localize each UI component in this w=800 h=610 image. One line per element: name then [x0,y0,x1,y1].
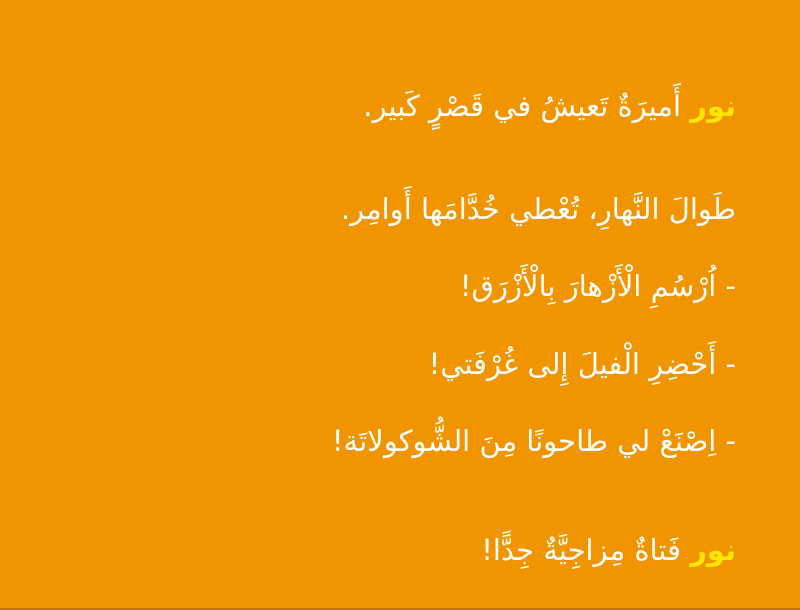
story-page: نور أَميرَةٌ تَعيشُ في قَصْرٍ كَبير. طَو… [0,0,800,610]
paragraph-conclusion-text: فَتاةٌ مِزاجِيَّةٌ جِدًّا! [481,533,690,567]
command-line-2: ‎- أَحْضِرِ الْفيلَ إِلى غُرْفَتي! [64,344,736,385]
character-name-noor-first: نور [690,89,736,123]
character-name-noor-last: نور [690,533,736,567]
paragraph-intro: نور أَميرَةٌ تَعيشُ في قَصْرٍ كَبير. [64,86,736,127]
paragraph-commands-group: طَوالَ النَّهارِ، تُعْطي خُدَّامَها أَوا… [64,189,736,462]
story-text-block: نور أَميرَةٌ تَعيشُ في قَصْرٍ كَبير. طَو… [0,0,800,571]
paragraph-conclusion: نور فَتاةٌ مِزاجِيَّةٌ جِدًّا! [64,530,736,571]
command-line-1: ‎- اُرْسُمِ الْأَزْهارَ بِالْأَزْرَق! [64,266,736,307]
paragraph-intro-text: أَميرَةٌ تَعيشُ في قَصْرٍ كَبير. [363,89,690,123]
paragraph-commands-intro: طَوالَ النَّهارِ، تُعْطي خُدَّامَها أَوا… [64,189,736,230]
command-line-3: ‎- اِصْنَعْ لي طاحونًا مِنَ الشُّوكولاتَ… [64,421,736,462]
